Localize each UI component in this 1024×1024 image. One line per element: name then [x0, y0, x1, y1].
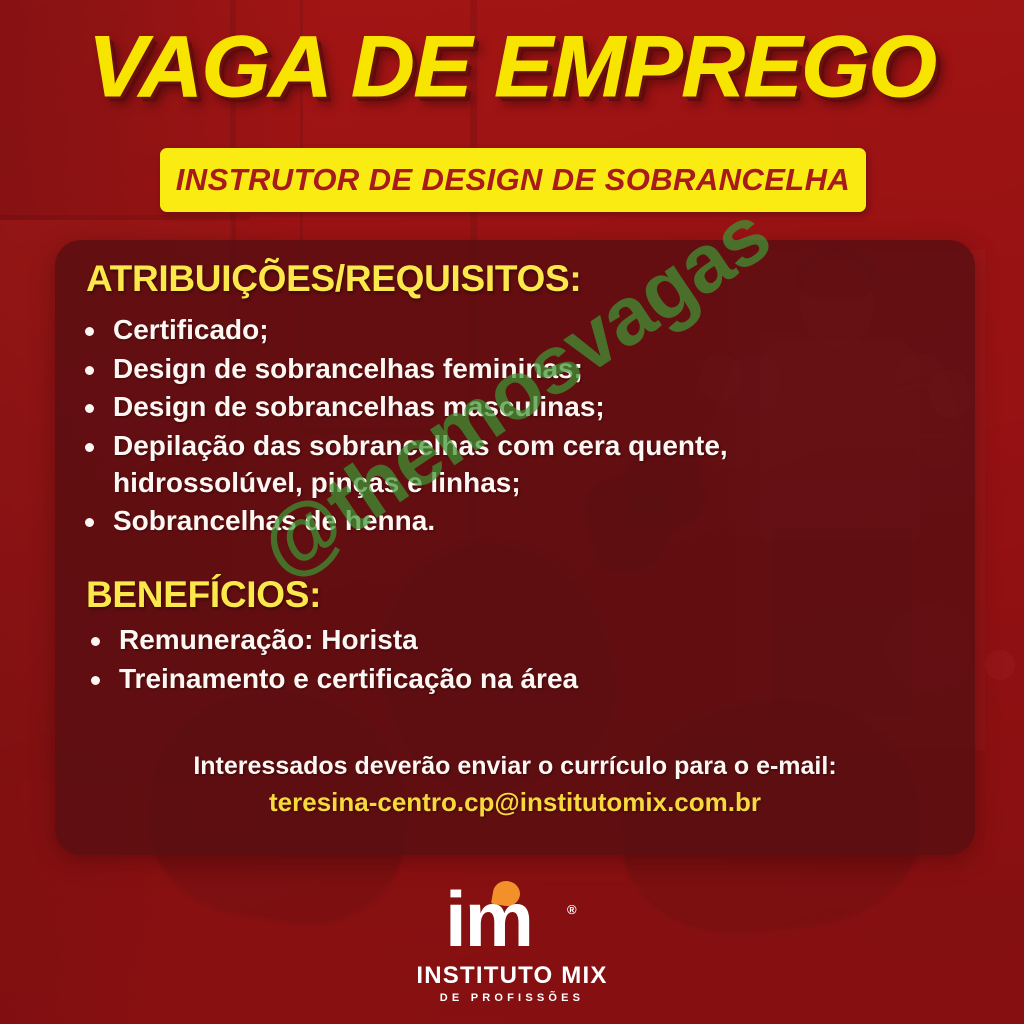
list-item: Depilação das sobrancelhas com cera quen…	[69, 428, 829, 501]
list-item: Certificado;	[69, 312, 829, 349]
contact-block: Interessados deverão enviar o currículo …	[55, 752, 975, 818]
benefits-list: Remuneração: Horista Treinamento e certi…	[75, 622, 795, 699]
contact-instruction: Interessados deverão enviar o currículo …	[55, 752, 975, 781]
list-item: Design de sobrancelhas femininas;	[69, 351, 829, 388]
page-title: VAGA DE EMPREGO	[0, 24, 1024, 110]
contact-email[interactable]: teresina-centro.cp@institutomix.com.br	[55, 787, 975, 818]
job-posting-poster: VAGA DE EMPREGO INSTRUTOR DE DESIGN DE S…	[0, 0, 1024, 1024]
company-logo: im ® INSTITUTO MIX DE PROFISSÕES	[0, 884, 1024, 1004]
list-item: Sobrancelhas de henna.	[69, 503, 829, 540]
logo-mark: im ®	[437, 884, 587, 960]
job-title-text: INSTRUTOR DE DESIGN DE SOBRANCELHA	[176, 162, 850, 198]
requirements-list: Certificado; Design de sobrancelhas femi…	[69, 312, 829, 542]
list-item: Treinamento e certificação na área	[75, 661, 795, 698]
job-title-banner: INSTRUTOR DE DESIGN DE SOBRANCELHA	[160, 148, 866, 212]
content-card: ATRIBUIÇÕES/REQUISITOS: Certificado; Des…	[55, 240, 975, 855]
list-item: Design de sobrancelhas masculinas;	[69, 389, 829, 426]
list-item: Remuneração: Horista	[75, 622, 795, 659]
logo-company-name: INSTITUTO MIX	[416, 962, 607, 990]
registered-trademark-icon: ®	[567, 902, 577, 917]
benefits-heading: BENEFÍCIOS:	[86, 574, 321, 616]
requirements-heading: ATRIBUIÇÕES/REQUISITOS:	[86, 258, 581, 300]
logo-tagline: DE PROFISSÕES	[440, 992, 584, 1004]
